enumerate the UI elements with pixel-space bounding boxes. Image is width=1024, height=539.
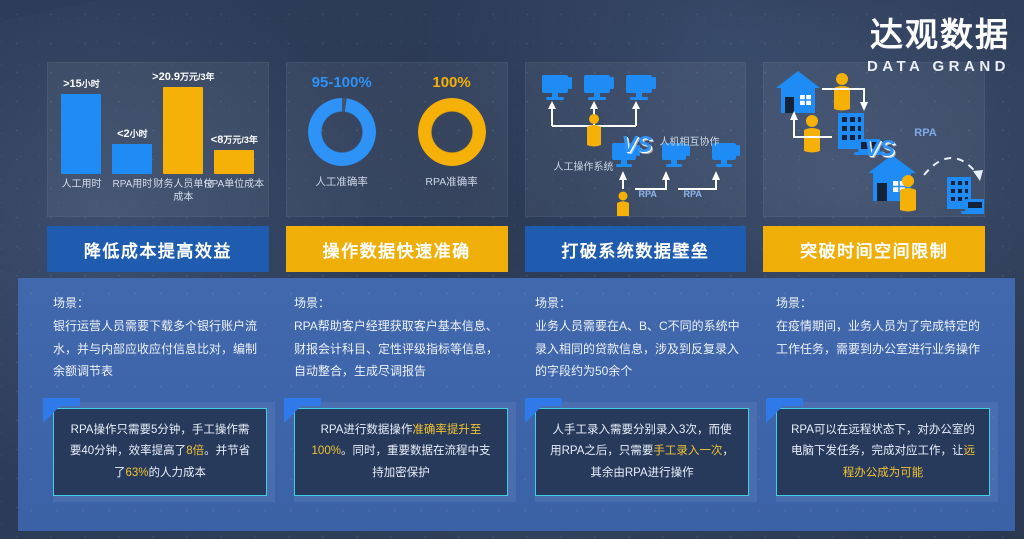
scenario-body-2: RPA帮助客户经理获取客户基本信息、财报会计科目、定性评级指标等信息，自动整合，… [294, 315, 506, 383]
scenario-text-2: 场景： RPA帮助客户经理获取客户基本信息、财报会计科目、定性评级指标等信息，自… [288, 278, 512, 383]
scenario-title-4: 场景： [776, 292, 988, 315]
donut-ring-manual-accuracy [308, 98, 376, 166]
bar-value-rpa-cost: <8万元/3年 [211, 133, 258, 146]
panel-banner-cost-efficiency[interactable]: 降低成本提高效益 [47, 226, 269, 272]
person-icon-house [834, 73, 850, 111]
monitor-icon-group-top [542, 75, 656, 100]
remote-scene-visual: VS RPA [763, 62, 985, 217]
bar-group-rpa-hours: <2小时 RPA用时 [109, 63, 155, 174]
panel-banner-data-accuracy[interactable]: 操作数据快速准确 [286, 226, 508, 272]
result-highlight: 手工录入一次 [653, 445, 722, 457]
result-text-part: 的人力成本 [149, 467, 207, 479]
bar-value-manual-hours: >15小时 [63, 77, 100, 90]
person-icon-bottom [617, 192, 629, 218]
scenario-text-1: 场景： 银行运营人员需要下载多个银行账户流水，并与内部应收应付信息比对，编制余额… [47, 278, 271, 383]
bar-rpa-hours [112, 144, 152, 174]
bar-manual-hours [61, 94, 101, 174]
bar-rpa-cost [214, 150, 254, 174]
vs-badge: VS [622, 131, 653, 158]
vs-badge: VS [864, 135, 895, 162]
panel-data-accuracy: 95-100% 人工准确率 100% RPA准确率 操作数据快速准确 [286, 62, 508, 274]
scene-label-manual-system: 人工操作系统 [554, 158, 614, 173]
donut-chart-group: 95-100% 人工准确率 100% RPA准确率 [287, 63, 507, 216]
result-text-part: 。同时，重要数据在流程中支持加密保护 [341, 445, 491, 478]
rpa-label: RPA [914, 127, 936, 139]
scenario-title-2: 场景： [294, 292, 506, 315]
connector-arrows-bottom [619, 171, 720, 189]
result-text-part: RPA进行数据操作 [321, 424, 413, 436]
scenario-column-2: 场景： RPA帮助客户经理获取客户基本信息、财报会计科目、定性评级指标等信息，自… [288, 278, 512, 531]
arrow-tag-rpa-1: RPA [639, 189, 657, 199]
house-icon-top [776, 71, 820, 113]
panel-card-row: >15小时 人工用时 <2小时 RPA用时 >20. [47, 62, 985, 274]
scenario-column-1: 场景： 银行运营人员需要下载多个银行账户流水，并与内部应收应付信息比对，编制余额… [47, 278, 271, 531]
person-icon-top [587, 114, 601, 147]
scenario-grid: 场景： 银行运营人员需要下载多个银行账户流水，并与内部应收应付信息比对，编制余额… [47, 278, 994, 531]
scenario-body-1: 银行运营人员需要下载多个银行账户流水，并与内部应收应付信息比对，编制余额调节表 [53, 315, 265, 383]
panel-cost-efficiency: >15小时 人工用时 <2小时 RPA用时 >20. [47, 62, 269, 274]
donut-value-manual-accuracy: 95-100% [308, 74, 376, 91]
result-card-2: RPA进行数据操作准确率提升至100%。同时，重要数据在流程中支持加密保护 [294, 408, 508, 496]
remote-scene: VS RPA [764, 63, 984, 216]
logo-chinese-text: 达观数据 [867, 18, 1010, 51]
bar-chart-visual: >15小时 人工用时 <2小时 RPA用时 >20. [47, 62, 269, 217]
scenario-column-3: 场景： 业务人员需要在A、B、C不同的系统中录入相同的贷款信息，涉及到反复录入的… [529, 278, 753, 531]
scenario-title-1: 场景： [53, 292, 265, 315]
result-text-1: RPA操作只需要5分钟，手工操作需要40分钟，效率提高了8倍。并节省了63%的人… [68, 420, 252, 484]
scene-label-human-machine: 人机相互协作 [660, 133, 720, 148]
rpa-dashed-arc [924, 158, 978, 175]
bar-group-rpa-cost: <8万元/3年 RPA单位成本 [211, 63, 257, 174]
systems-scene-visual: VS 人工操作系统 人机相互协作 RPA RPA [525, 62, 747, 217]
result-text-part: RPA可以在远程状态下，对办公室的电脑下发任务，完成对应工作，让 [791, 424, 975, 457]
rpa-arrow-head [973, 170, 983, 181]
panel-banner-system-silos[interactable]: 打破系统数据壁垒 [525, 226, 747, 272]
donut-manual-accuracy: 95-100% 人工准确率 [308, 74, 376, 189]
bar-group-manual-hours: >15小时 人工用时 [58, 63, 104, 174]
panel-system-silos: VS 人工操作系统 人机相互协作 RPA RPA 打破系统数据壁垒 [525, 62, 747, 274]
person-icon-bottom-house [900, 175, 916, 212]
result-text-2: RPA进行数据操作准确率提升至100%。同时，重要数据在流程中支持加密保护 [309, 420, 493, 484]
scenario-text-4: 场景： 在疫情期间，业务人员为了完成特定的工作任务，需要到办公室进行业务操作 [770, 278, 994, 360]
result-card-3: 人手工录入需要分别录入3次，而使用RPA之后，只需要手工录入一次，其余由RPA进… [535, 408, 749, 496]
result-highlight: 8倍 [186, 445, 204, 457]
result-highlight: 63% [125, 467, 148, 479]
scenario-body-4: 在疫情期间，业务人员为了完成特定的工作任务，需要到办公室进行业务操作 [776, 315, 988, 361]
bar-label-rpa-cost: RPA单位成本 [201, 179, 267, 192]
donut-label-rpa-accuracy: RPA准确率 [418, 174, 486, 189]
bar-value-staff-cost: >20.9万元/3年 [152, 70, 214, 83]
result-text-3: 人手工录入需要分别录入3次，而使用RPA之后，只需要手工录入一次，其余由RPA进… [550, 420, 734, 484]
scenario-column-4: 场景： 在疫情期间，业务人员为了完成特定的工作任务，需要到办公室进行业务操作 R… [770, 278, 994, 531]
scenario-body-3: 业务人员需要在A、B、C不同的系统中录入相同的贷款信息，涉及到反复录入的字段约为… [535, 315, 747, 383]
donut-value-rpa-accuracy: 100% [418, 74, 486, 91]
donut-chart-visual: 95-100% 人工准确率 100% RPA准确率 [286, 62, 508, 217]
office-icon-bottom [947, 177, 985, 214]
scenario-band: 场景： 银行运营人员需要下载多个银行账户流水，并与内部应收应付信息比对，编制余额… [18, 278, 1015, 531]
result-text-4: RPA可以在远程状态下，对办公室的电脑下发任务，完成对应工作，让远程办公成为可能 [791, 420, 975, 484]
donut-ring-rpa-accuracy [418, 98, 486, 166]
result-card-4: RPA可以在远程状态下，对办公室的电脑下发任务，完成对应工作，让远程办公成为可能 [776, 408, 990, 496]
scenario-text-3: 场景： 业务人员需要在A、B、C不同的系统中录入相同的贷款信息，涉及到反复录入的… [529, 278, 753, 383]
infographic-canvas: 达观数据 DATA GRAND >15小时 人工用时 <2小时 [0, 0, 1024, 539]
person-icon-left [804, 115, 820, 153]
arrow-tag-rpa-2: RPA [684, 189, 702, 199]
donut-label-manual-accuracy: 人工准确率 [308, 174, 376, 189]
systems-scene: VS 人工操作系统 人机相互协作 RPA RPA [526, 63, 746, 216]
bar-staff-cost [163, 87, 203, 174]
panel-time-space: VS RPA 突破时间空间限制 [763, 62, 985, 274]
scenario-title-3: 场景： [535, 292, 747, 315]
result-card-1: RPA操作只需要5分钟，手工操作需要40分钟，效率提高了8倍。并节省了63%的人… [53, 408, 267, 496]
bar-group-staff-cost: >20.9万元/3年 财务人员单位成本 [160, 63, 206, 174]
bar-value-rpa-hours: <2小时 [117, 127, 148, 140]
panel-banner-time-space[interactable]: 突破时间空间限制 [763, 226, 985, 272]
donut-rpa-accuracy: 100% RPA准确率 [418, 74, 486, 189]
bar-chart-bars: >15小时 人工用时 <2小时 RPA用时 >20. [48, 63, 268, 216]
